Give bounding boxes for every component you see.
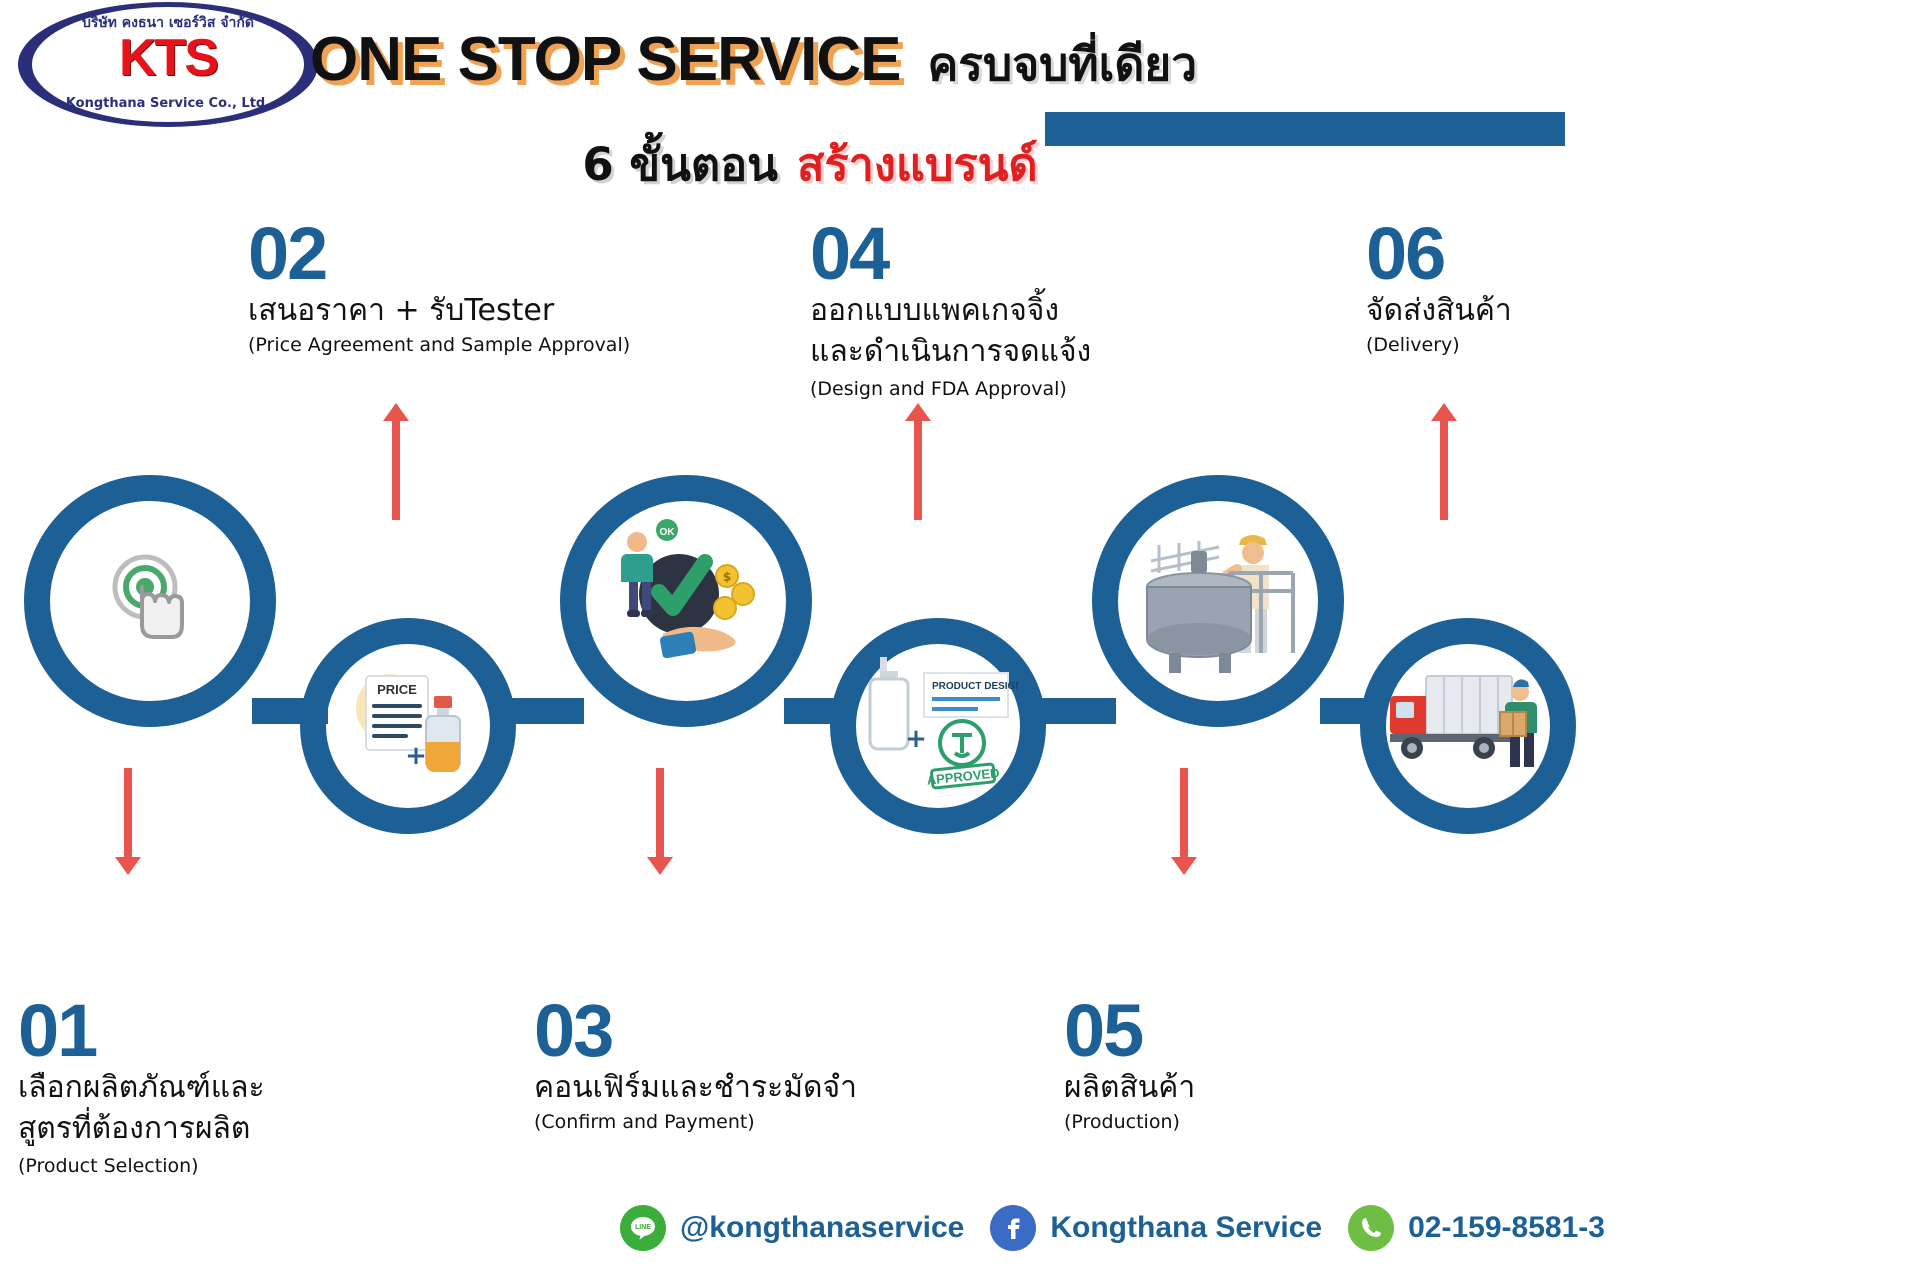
logo-english-text: Kongthana Service Co., Ltd. (18, 96, 318, 111)
step-thai-01-line2: สูตรที่ต้องการผลิต (18, 1107, 265, 1151)
arrow-to-step-06 (1440, 420, 1448, 520)
footer-contact-bar: LINE @kongthanaservice Kongthana Service… (620, 1196, 1910, 1260)
step-circle-02[interactable]: PRICE + (300, 618, 516, 834)
arrow-to-step-02 (392, 420, 400, 520)
svg-text:+: + (905, 724, 927, 754)
step-thai-04-line2: และดำเนินการจดแจ้ง (810, 330, 1091, 374)
contact-line[interactable]: LINE @kongthanaservice (620, 1205, 964, 1251)
logo-initials: KTS (18, 32, 318, 84)
company-logo: บริษัท คงธนา เซอร์วิส จำกัด KTS Kongthan… (18, 2, 318, 127)
svg-text:OK: OK (660, 527, 676, 538)
step-english-02: (Price Agreement and Sample Approval) (248, 334, 630, 356)
step-circle-06[interactable] (1360, 618, 1576, 834)
step-thai-05: ผลิตสินค้า (1064, 1068, 1195, 1107)
infographic-canvas: บริษัท คงธนา เซอร์วิส จำกัด KTS Kongthan… (0, 0, 1920, 1280)
step-number-03: 03 (534, 995, 857, 1066)
arrow-to-step-01 (124, 768, 132, 858)
step-english-01: (Product Selection) (18, 1155, 265, 1177)
step-number-02: 02 (248, 218, 630, 289)
step-number-04: 04 (810, 218, 1091, 289)
facebook-icon (990, 1205, 1036, 1251)
step-english-05: (Production) (1064, 1111, 1195, 1133)
step-label-04: 04 ออกแบบแพคเกจจิ้ง และดำเนินการจดแจ้ง (… (810, 218, 1091, 400)
chain-link-1-2 (252, 698, 328, 724)
process-chain: PRICE + (0, 455, 1920, 995)
chain-link-4-5 (1032, 698, 1116, 724)
line-icon: LINE (620, 1205, 666, 1251)
phone-number: 02-159-8581-3 (1408, 1211, 1605, 1245)
step-circle-03[interactable]: OK $ (560, 475, 812, 727)
step-circle-05[interactable] (1092, 475, 1344, 727)
touch-select-icon (50, 501, 250, 701)
price-label: PRICE (377, 682, 417, 697)
chain-link-3-4 (784, 698, 856, 724)
step-label-02: 02 เสนอราคา + รับTester (Price Agreement… (248, 218, 630, 356)
step-circle-04[interactable]: PRODUCT DESIGN + APPROVED (830, 618, 1046, 834)
svg-text:+: + (405, 741, 427, 771)
price-sheet-bottle-icon: PRICE + (326, 644, 490, 808)
svg-text:PRODUCT DESIGN: PRODUCT DESIGN (932, 681, 1018, 692)
svg-text:$: $ (723, 570, 731, 584)
step-english-06: (Delivery) (1366, 334, 1512, 356)
page-title: ONE STOP SERVICE (310, 24, 900, 95)
package-design-approved-icon: PRODUCT DESIGN + APPROVED (856, 644, 1020, 808)
step-label-05: 05 ผลิตสินค้า (Production) (1064, 995, 1195, 1133)
chain-link-2-3 (504, 698, 584, 724)
facebook-page-name: Kongthana Service (1050, 1211, 1322, 1245)
confirm-payment-icon: OK $ (586, 501, 786, 701)
svg-text:LINE: LINE (635, 1224, 651, 1231)
step-number-01: 01 (18, 995, 265, 1066)
arrow-to-step-05 (1180, 768, 1188, 858)
production-tank-icon (1118, 501, 1318, 701)
step-number-05: 05 (1064, 995, 1195, 1066)
step-number-06: 06 (1366, 218, 1512, 289)
phone-icon (1348, 1205, 1394, 1251)
header-subtitle-row: 6 ขั้นตอน สร้างแบรนด์ (310, 128, 1310, 200)
page-title-thai: ครบจบที่เดียว (928, 28, 1198, 101)
line-handle: @kongthanaservice (680, 1211, 964, 1245)
subtitle-steps-count: 6 ขั้นตอน (582, 128, 778, 200)
arrow-to-step-04 (914, 420, 922, 520)
step-circle-01[interactable] (24, 475, 276, 727)
header-title-row: ONE STOP SERVICE ครบจบที่เดียว (310, 24, 1610, 110)
step-thai-03: คอนเฟิร์มและชำระมัดจำ (534, 1068, 857, 1107)
step-label-06: 06 จัดส่งสินค้า (Delivery) (1366, 218, 1512, 356)
delivery-truck-icon (1386, 644, 1550, 808)
subtitle-brand: สร้างแบรนด์ (797, 128, 1038, 200)
step-label-01: 01 เลือกผลิตภัณฑ์และ สูตรที่ต้องการผลิต … (18, 995, 265, 1177)
step-thai-02: เสนอราคา + รับTester (248, 291, 630, 330)
step-label-03: 03 คอนเฟิร์มและชำระมัดจำ (Confirm and Pa… (534, 995, 857, 1133)
step-english-03: (Confirm and Payment) (534, 1111, 857, 1133)
step-thai-06: จัดส่งสินค้า (1366, 291, 1512, 330)
step-thai-01-line1: เลือกผลิตภัณฑ์และ (18, 1068, 265, 1107)
chain-link-5-6 (1320, 698, 1386, 724)
step-thai-04-line1: ออกแบบแพคเกจจิ้ง (810, 291, 1091, 330)
arrow-to-step-03 (656, 768, 664, 858)
step-english-04: (Design and FDA Approval) (810, 378, 1091, 400)
contact-phone[interactable]: 02-159-8581-3 (1348, 1205, 1605, 1251)
contact-facebook[interactable]: Kongthana Service (990, 1205, 1322, 1251)
